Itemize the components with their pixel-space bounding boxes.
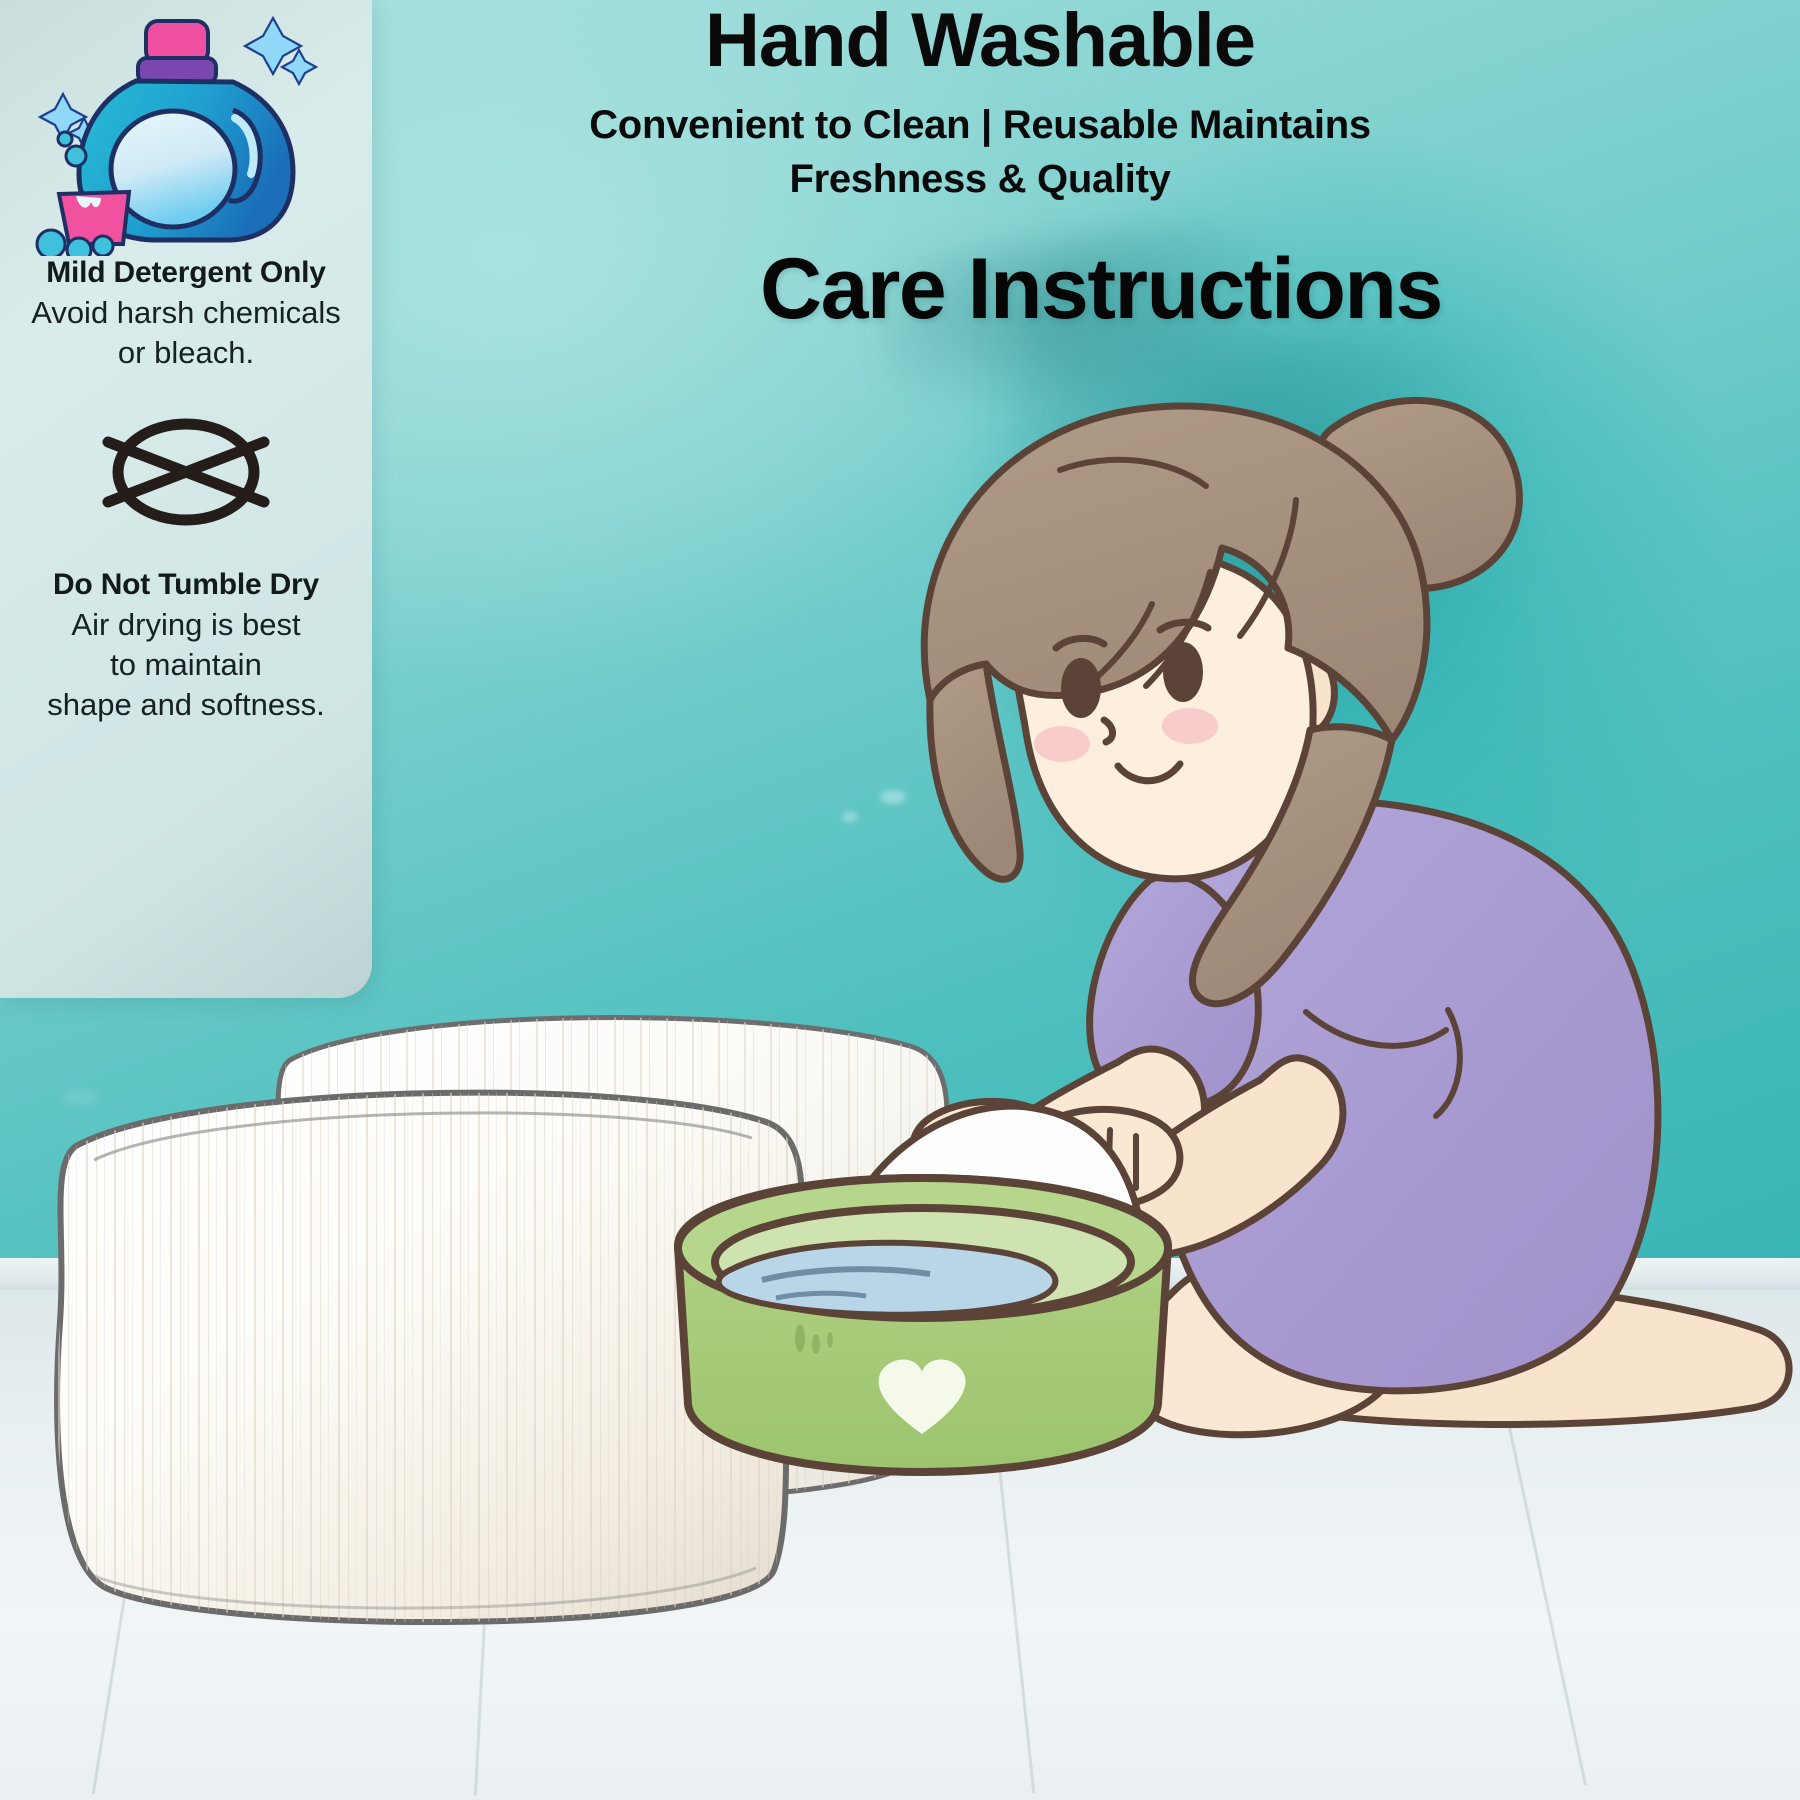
page-subtitle: Convenient to Clean | Reusable Maintains… — [440, 98, 1520, 206]
wall-speck — [880, 790, 906, 804]
care-info-panel: Mild Detergent Only Avoid harsh chemical… — [0, 0, 372, 998]
detergent-bottle-icon — [21, 6, 351, 256]
do-not-tumble-dry-icon — [86, 402, 286, 542]
care-item-tumble-dry-body-line2: to maintain — [16, 645, 356, 685]
care-item-detergent-title: Mild Detergent Only — [16, 256, 356, 289]
page-subtitle-line1: Convenient to Clean | Reusable Maintains — [440, 98, 1520, 152]
care-item-tumble-dry-title: Do Not Tumble Dry — [16, 568, 356, 601]
care-item-tumble-dry: Do Not Tumble Dry Air drying is best to … — [16, 568, 356, 724]
care-item-tumble-dry-body-line1: Air drying is best — [16, 605, 356, 645]
care-item-detergent: Mild Detergent Only Avoid harsh chemical… — [16, 256, 356, 372]
care-item-tumble-dry-body-line3: shape and softness. — [16, 685, 356, 725]
wall-speck — [842, 812, 858, 822]
wall-shadow-soft — [1020, 330, 1540, 790]
pillow-front — [30, 1080, 820, 1640]
care-item-detergent-body-line2: or bleach. — [16, 333, 356, 373]
care-item-detergent-body-line1: Avoid harsh chemicals — [16, 293, 356, 333]
care-instructions-heading: Care Instructions — [760, 246, 1800, 332]
page-subtitle-line2: Freshness & Quality — [440, 152, 1520, 206]
poster-canvas: Mild Detergent Only Avoid harsh chemical… — [0, 0, 1800, 1800]
page-title: Hand Washable — [400, 2, 1560, 80]
